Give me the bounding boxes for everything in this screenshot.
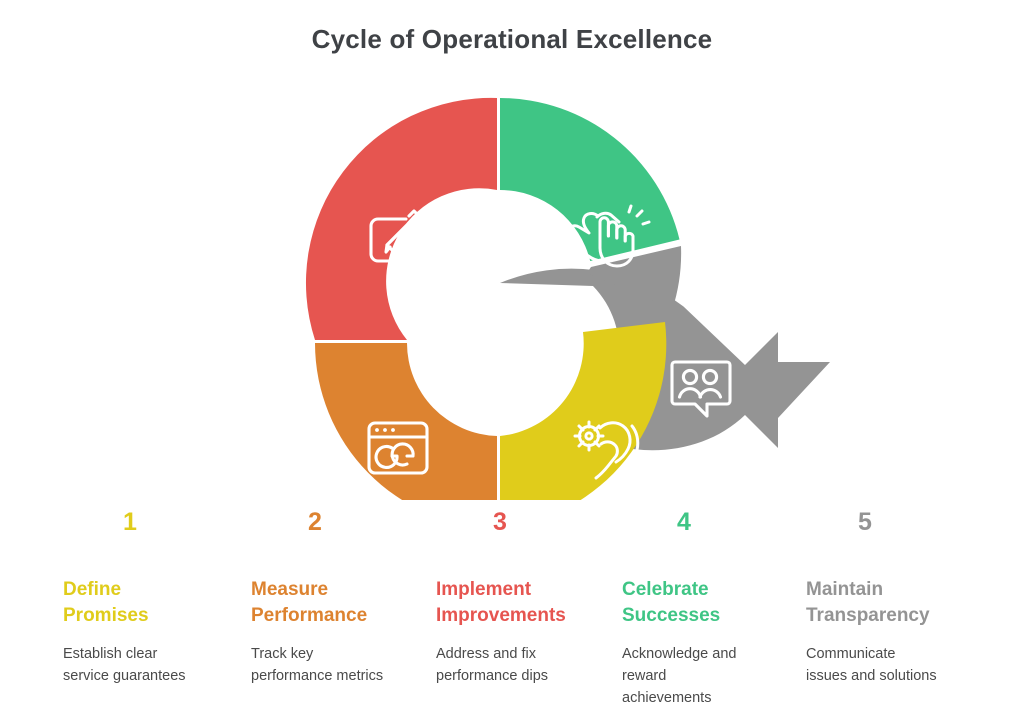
legend-item-measure-performance[interactable]: 2 Measure Performance Track key performa…: [251, 505, 419, 687]
step-desc-line2: reward: [622, 668, 666, 684]
step-description: Address and fix performance dips: [436, 643, 604, 687]
step-number: 2: [251, 505, 419, 545]
step-title-line1: Implement: [436, 579, 531, 600]
cycle-diagram: [0, 60, 1024, 500]
step-desc-line1: Address and fix: [436, 646, 536, 662]
step-title: Measure Performance: [251, 577, 419, 629]
step-title-line1: Celebrate: [622, 579, 709, 600]
step-desc-line2: issues and solutions: [806, 668, 937, 684]
step-desc-line1: Establish clear: [63, 646, 157, 662]
step-title-line2: Improvements: [436, 605, 566, 626]
donut-segment-define-promises[interactable]: [500, 322, 666, 500]
legend-item-celebrate-successes[interactable]: 4 Celebrate Successes Acknowledge and re…: [622, 505, 790, 709]
steps-legend: 1 Define Promises Establish clear servic…: [0, 505, 1024, 725]
step-number: 5: [806, 505, 974, 545]
step-desc-line2: performance dips: [436, 668, 548, 684]
step-description: Communicate issues and solutions: [806, 643, 974, 687]
step-number: 1: [63, 505, 231, 545]
step-description: Acknowledge and reward achievements: [622, 643, 790, 709]
step-title: Define Promises: [63, 577, 231, 629]
legend-item-implement-improvements[interactable]: 3 Implement Improvements Address and fix…: [436, 505, 604, 687]
donut-segment-celebrate-successes[interactable]: [500, 98, 680, 261]
step-desc-line1: Communicate: [806, 646, 895, 662]
step-title-line2: Promises: [63, 605, 149, 626]
step-desc-line3: achievements: [622, 690, 711, 706]
step-title: Maintain Transparency: [806, 577, 974, 629]
step-title-line1: Measure: [251, 579, 328, 600]
step-desc-line2: service guarantees: [63, 668, 186, 684]
step-desc-line2: performance metrics: [251, 668, 383, 684]
step-title-line2: Successes: [622, 605, 720, 626]
step-desc-line1: Acknowledge and: [622, 646, 736, 662]
step-description: Track key performance metrics: [251, 643, 419, 687]
step-title: Celebrate Successes: [622, 577, 790, 629]
step-title: Implement Improvements: [436, 577, 604, 629]
step-number: 4: [622, 505, 790, 545]
step-number: 3: [436, 505, 604, 545]
step-description: Establish clear service guarantees: [63, 643, 231, 687]
step-title-line1: Define: [63, 579, 121, 600]
step-title-line1: Maintain: [806, 579, 883, 600]
legend-item-define-promises[interactable]: 1 Define Promises Establish clear servic…: [63, 505, 231, 687]
legend-item-maintain-transparency[interactable]: 5 Maintain Transparency Communicate issu…: [806, 505, 974, 687]
step-title-line2: Transparency: [806, 605, 930, 626]
step-title-line2: Performance: [251, 605, 367, 626]
page-title: Cycle of Operational Excellence: [0, 24, 1024, 55]
step-desc-line1: Track key: [251, 646, 313, 662]
